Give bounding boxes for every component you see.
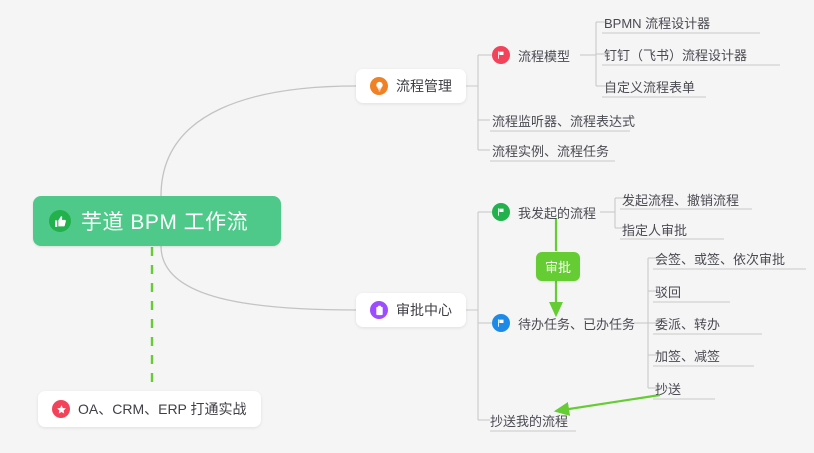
flag-icon — [492, 46, 510, 64]
node-instance-task[interactable]: 流程实例、流程任务 — [492, 137, 609, 165]
node-label: 流程监听器、流程表达式 — [492, 111, 635, 130]
flag-icon — [492, 203, 510, 221]
node-label: 发起流程、撤销流程 — [622, 190, 739, 209]
mindmap-canvas: 芋道 BPM 工作流 流程管理 流程模型 BPMN 流程设计器 钉钉（飞书）流程… — [0, 0, 814, 453]
cc-flow-arrow — [556, 395, 660, 411]
node-delegate-transfer[interactable]: 委派、转办 — [655, 310, 720, 338]
node-label: 会签、或签、依次审批 — [655, 249, 785, 268]
flag-icon — [492, 314, 510, 332]
root-label: 芋道 BPM 工作流 — [81, 206, 248, 236]
node-label: 审批中心 — [396, 300, 452, 320]
node-label: OA、CRM、ERP 打通实战 — [78, 399, 247, 419]
node-label: 抄送 — [655, 379, 681, 398]
node-label: 自定义流程表单 — [604, 77, 695, 96]
node-label: 待办任务、已办任务 — [518, 314, 635, 333]
node-label: 我发起的流程 — [518, 203, 596, 222]
lightbulb-icon — [370, 77, 388, 95]
node-footer-integration[interactable]: OA、CRM、ERP 打通实战 — [38, 391, 261, 427]
clipboard-icon — [370, 301, 388, 319]
node-my-initiated[interactable]: 我发起的流程 — [492, 199, 596, 227]
approval-annotation-pill[interactable]: 审批 — [536, 252, 580, 281]
pill-label: 审批 — [545, 257, 571, 276]
node-approval-center[interactable]: 审批中心 — [356, 293, 466, 327]
node-cc-to-me[interactable]: 抄送我的流程 — [490, 407, 568, 435]
node-cc[interactable]: 抄送 — [655, 375, 681, 403]
node-label: 流程实例、流程任务 — [492, 141, 609, 160]
node-label: 驳回 — [655, 282, 681, 301]
node-process-management[interactable]: 流程管理 — [356, 69, 466, 103]
node-label: 流程管理 — [396, 76, 452, 96]
node-add-remove-sign[interactable]: 加签、减签 — [655, 342, 720, 370]
node-label: BPMN 流程设计器 — [604, 13, 710, 32]
node-listener-expression[interactable]: 流程监听器、流程表达式 — [492, 107, 635, 135]
node-start-cancel[interactable]: 发起流程、撤销流程 — [622, 186, 739, 214]
node-todo-done[interactable]: 待办任务、已办任务 — [492, 310, 635, 338]
star-icon — [52, 400, 70, 418]
node-label: 流程模型 — [518, 46, 570, 65]
node-assignee-approval[interactable]: 指定人审批 — [622, 216, 687, 244]
node-bpmn-designer[interactable]: BPMN 流程设计器 — [604, 9, 710, 37]
node-label: 加签、减签 — [655, 346, 720, 365]
node-label: 委派、转办 — [655, 314, 720, 333]
node-label: 指定人审批 — [622, 220, 687, 239]
node-dingtalk-feishu-designer[interactable]: 钉钉（飞书）流程设计器 — [604, 41, 747, 69]
root-node[interactable]: 芋道 BPM 工作流 — [33, 196, 281, 246]
node-countersign[interactable]: 会签、或签、依次审批 — [655, 245, 785, 273]
thumbs-up-icon — [49, 210, 71, 232]
node-label: 抄送我的流程 — [490, 411, 568, 430]
node-label: 钉钉（飞书）流程设计器 — [604, 45, 747, 64]
node-custom-process-form[interactable]: 自定义流程表单 — [604, 73, 695, 101]
node-process-model[interactable]: 流程模型 — [492, 42, 570, 70]
node-reject[interactable]: 驳回 — [655, 278, 681, 306]
